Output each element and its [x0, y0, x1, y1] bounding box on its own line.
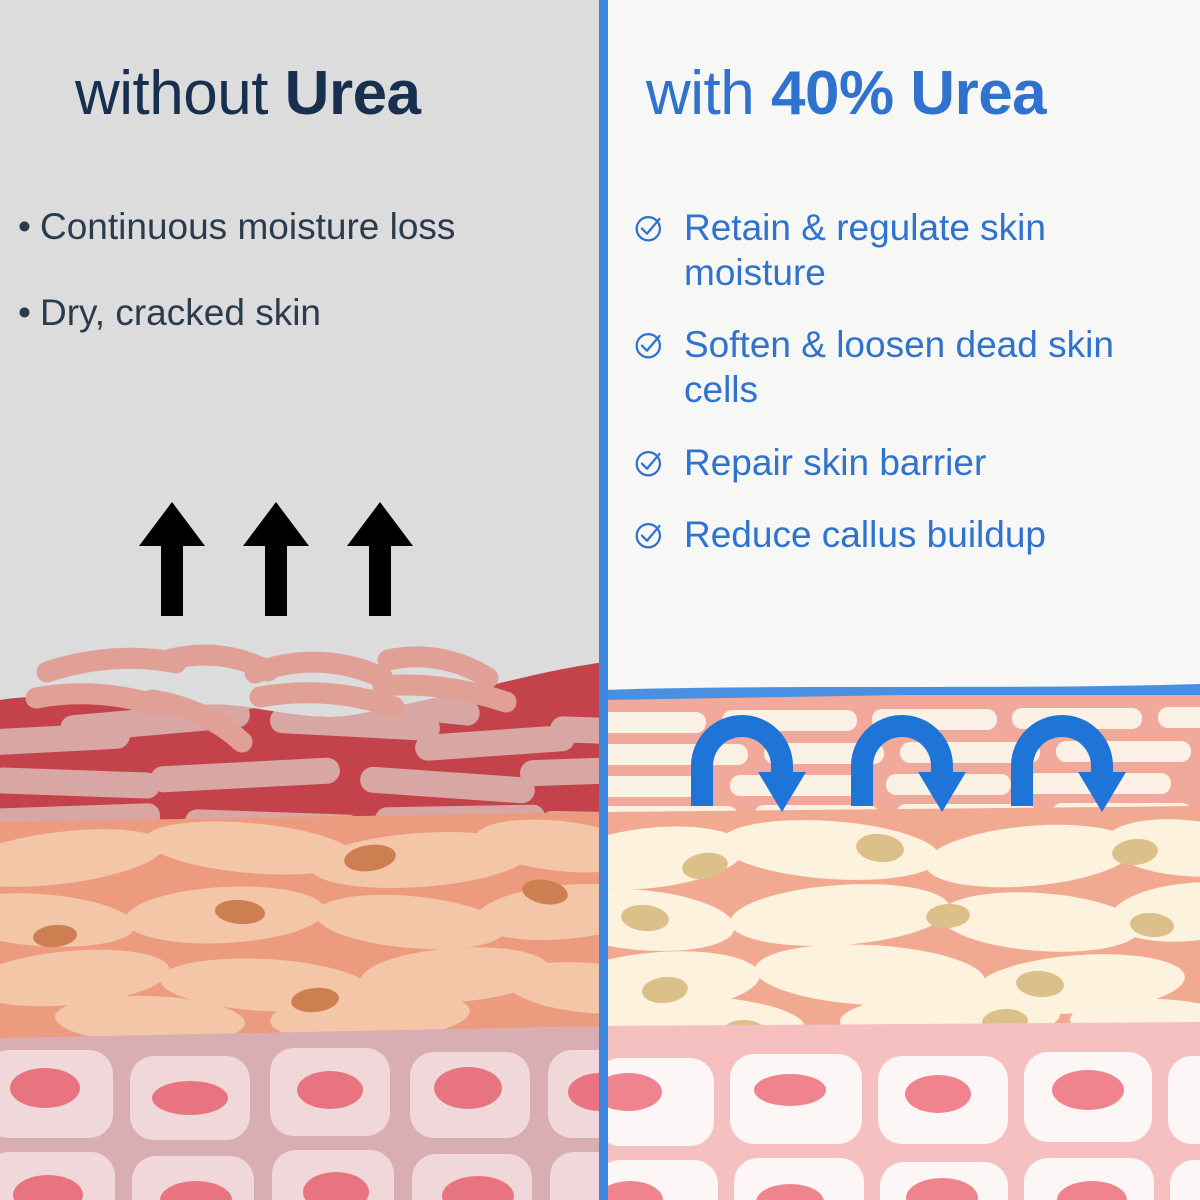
- check-circle-icon: [632, 440, 684, 480]
- loop-arrow-icon: [1022, 726, 1126, 812]
- list-item-label: Continuous moisture loss: [40, 205, 455, 249]
- right-title-regular: with: [646, 59, 771, 128]
- list-item: Repair skin barrier: [632, 440, 1192, 485]
- list-item-label: Repair skin barrier: [684, 440, 1192, 485]
- check-circle-icon: [632, 205, 684, 245]
- left-bullet-list: • Continuous moisture loss • Dry, cracke…: [18, 205, 593, 376]
- check-circle-icon: [632, 512, 684, 552]
- right-benefit-list: Retain & regulate skin moisture Soften &…: [632, 205, 1192, 584]
- list-item: Soften & loosen dead skin cells: [632, 322, 1192, 412]
- list-item: • Dry, cracked skin: [18, 291, 593, 335]
- check-circle-icon: [632, 322, 684, 362]
- list-item: Retain & regulate skin moisture: [632, 205, 1192, 295]
- list-item: Reduce callus buildup: [632, 512, 1192, 557]
- list-item-label: Retain & regulate skin moisture: [684, 205, 1192, 295]
- right-title-bold: 40% Urea: [771, 59, 1046, 128]
- list-item-label: Soften & loosen dead skin cells: [684, 322, 1192, 412]
- loop-arrow-icon: [862, 726, 966, 812]
- list-item-label: Reduce callus buildup: [684, 512, 1192, 557]
- bullet-dot-icon: •: [18, 205, 40, 249]
- panel-divider: [599, 0, 608, 1200]
- list-item: • Continuous moisture loss: [18, 205, 593, 249]
- infographic-canvas: without Urea • Continuous moisture loss …: [0, 0, 1200, 1200]
- left-title-bold: Urea: [285, 59, 421, 128]
- left-panel-title: without Urea: [75, 63, 421, 125]
- bullet-dot-icon: •: [18, 291, 40, 335]
- right-panel-title: with 40% Urea: [646, 63, 1046, 125]
- list-item-label: Dry, cracked skin: [40, 291, 321, 335]
- left-title-regular: without: [75, 59, 285, 128]
- loop-arrow-icon: [702, 726, 806, 812]
